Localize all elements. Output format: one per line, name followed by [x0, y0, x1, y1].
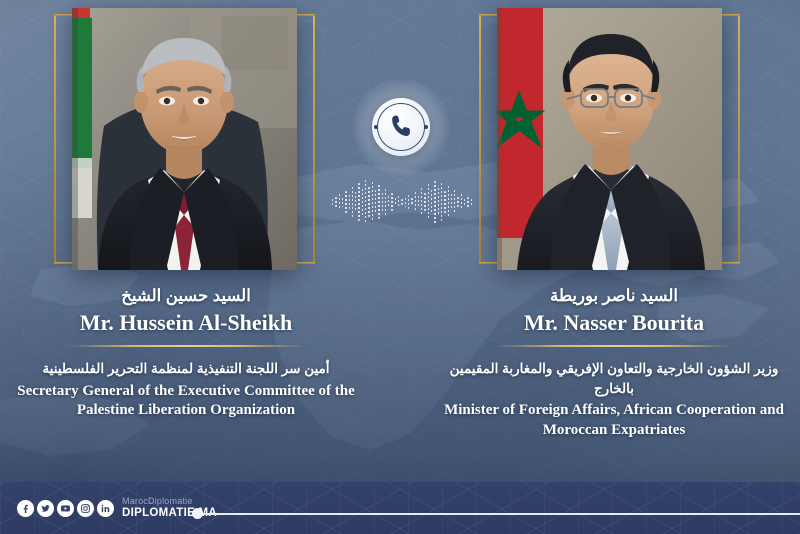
waveform-bar — [355, 192, 356, 212]
waveform-bar — [342, 198, 343, 207]
person-name-arabic: السيد ناصر بوريطة — [440, 286, 788, 307]
person-title-arabic: وزير الشؤون الخارجية والتعاون الإفريقي و… — [440, 359, 788, 398]
waveform-bar — [424, 193, 425, 211]
waveform-bar — [441, 183, 442, 221]
waveform-bar — [408, 195, 409, 209]
waveform-bar — [362, 189, 363, 215]
footer-bar: MarocDiplomatie DIPLOMATIE.MA — [0, 482, 800, 534]
waveform-bar — [385, 189, 386, 215]
linkedin-icon[interactable] — [97, 500, 114, 517]
person-name-english: Mr. Hussein Al-Sheikh — [12, 309, 360, 337]
waveform-bar — [451, 194, 452, 210]
social-links — [17, 500, 114, 517]
waveform-bar — [434, 181, 435, 223]
phone-handset-icon — [372, 98, 430, 156]
waveform-bar — [375, 190, 376, 214]
waveform-bar — [438, 188, 439, 216]
waveform-bar — [345, 191, 346, 213]
waveform-bar — [401, 199, 402, 205]
person-block-left: السيد حسين الشيخ Mr. Hussein Al-Sheikh أ… — [12, 286, 360, 421]
person-name-english: Mr. Nasser Bourita — [440, 309, 788, 337]
person-title-arabic: أمين سر اللجنة التنفيذية لمنظمة التحرير … — [12, 359, 360, 379]
progress-knob[interactable] — [192, 508, 203, 519]
waveform-bar — [411, 198, 412, 206]
waveform-bar — [382, 193, 383, 211]
photo-nasser-bourita — [497, 8, 722, 270]
waveform-bar — [388, 196, 389, 208]
photo-hussein-al-sheikh — [72, 8, 297, 270]
facebook-icon[interactable] — [17, 500, 34, 517]
waveform-bar — [405, 198, 406, 207]
waveform-bar — [365, 180, 366, 224]
waveform-bar — [339, 194, 340, 210]
portrait-right — [497, 8, 722, 270]
person-block-right: السيد ناصر بوريطة Mr. Nasser Bourita وزي… — [440, 286, 788, 441]
waveform-bar — [352, 187, 353, 217]
audio-waveform — [332, 176, 472, 228]
gold-divider — [68, 345, 304, 347]
waveform-bar — [421, 188, 422, 216]
waveform-bar — [332, 199, 333, 205]
waveform-bar — [368, 187, 369, 217]
gold-divider — [496, 345, 732, 347]
waveform-bar — [398, 196, 399, 208]
waveform-bar — [471, 199, 472, 205]
waveform-bar — [378, 185, 379, 219]
instagram-icon[interactable] — [77, 500, 94, 517]
waveform-bar — [415, 192, 416, 212]
waveform-bar — [391, 193, 392, 211]
waveform-bar — [428, 184, 429, 220]
progress-track — [199, 513, 800, 515]
waveform-bar — [335, 197, 336, 207]
person-title-english: Secretary General of the Executive Commi… — [12, 382, 360, 422]
waveform-bar — [461, 194, 462, 210]
waveform-bar — [349, 195, 350, 209]
waveform-bar — [395, 198, 396, 206]
waveform-bar — [431, 190, 432, 214]
waveform-bar — [454, 190, 455, 214]
brand-handle: MarocDiplomatie — [122, 497, 217, 506]
portrait-left — [72, 8, 297, 270]
waveform-bar — [467, 197, 468, 208]
person-title-english: Minister of Foreign Affairs, African Coo… — [440, 401, 788, 441]
youtube-icon[interactable] — [57, 500, 74, 517]
waveform-bar — [372, 182, 373, 222]
person-name-arabic: السيد حسين الشيخ — [12, 286, 360, 307]
waveform-bar — [464, 199, 465, 206]
waveform-bar — [358, 183, 359, 221]
waveform-bar — [418, 196, 419, 208]
waveform-bar — [444, 191, 445, 213]
call-badge — [372, 98, 430, 156]
twitter-icon[interactable] — [37, 500, 54, 517]
waveform-bar — [457, 197, 458, 207]
progress-slider[interactable] — [192, 508, 800, 520]
call-announcement-card: السيد حسين الشيخ Mr. Hussein Al-Sheikh أ… — [0, 0, 800, 534]
waveform-bar — [448, 186, 449, 218]
